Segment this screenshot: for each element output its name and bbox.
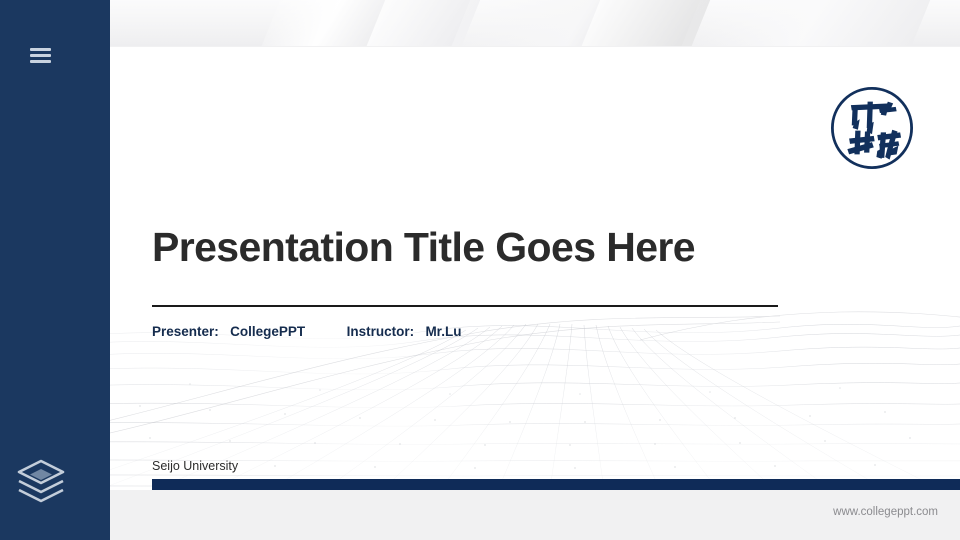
hamburger-bar (30, 48, 51, 51)
presenter-label: Presenter: (152, 324, 219, 339)
instructor-name: Mr.Lu (425, 324, 461, 339)
app-root: Presentation Title Goes Here Presenter: … (0, 0, 960, 540)
hamburger-menu-icon[interactable] (30, 48, 51, 63)
hamburger-bar (30, 60, 51, 63)
title-divider (152, 305, 778, 307)
layers-stack-icon[interactable] (15, 455, 67, 507)
byline: Presenter: CollegePPT Instructor: Mr.Lu (152, 324, 461, 339)
slide-accent-bar (152, 479, 960, 490)
presenter-name: CollegePPT (230, 324, 305, 339)
page-title: Presentation Title Goes Here (152, 224, 695, 271)
hamburger-bar (30, 54, 51, 57)
footer-watermark: www.collegeppt.com (833, 506, 938, 518)
instructor-label: Instructor: (347, 324, 415, 339)
organization-name: Seijo University (152, 459, 238, 473)
slide-canvas[interactable]: Presentation Title Goes Here Presenter: … (80, 47, 960, 490)
seijo-university-seal-icon (828, 84, 916, 172)
left-sidebar (0, 0, 110, 540)
page-backdrop-ribbons (110, 0, 960, 46)
